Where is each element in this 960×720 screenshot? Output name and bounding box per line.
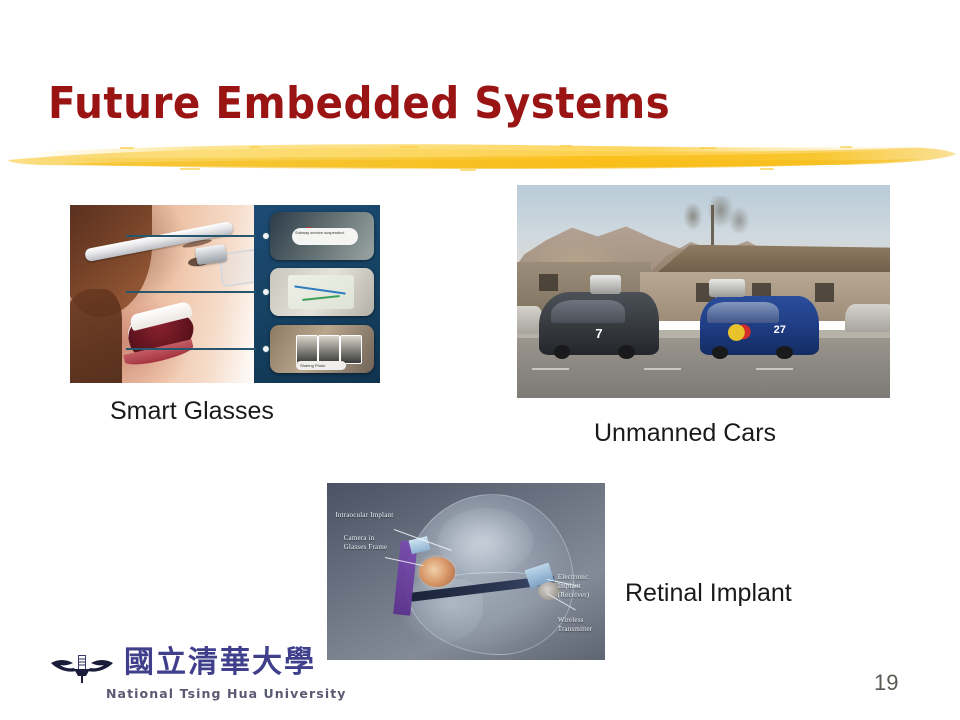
lidar-sensor-rack-2: [709, 279, 745, 297]
label-wireless-transmitter: Wireless Transmitter: [558, 616, 593, 634]
road-marking-3: [756, 368, 793, 370]
map-surface: [288, 275, 354, 309]
caption-unmanned-cars: Unmanned Cars: [594, 420, 776, 448]
caption-retinal-implant: Retinal Implant: [625, 580, 792, 608]
map-route-blue: [294, 285, 346, 294]
window-3: [815, 283, 834, 302]
title-underline-brushstroke: [0, 138, 960, 172]
notification-card: 6 Subway service suspended.: [270, 212, 374, 260]
callout-dot-3: [262, 345, 270, 353]
photo-share-card: Sharing Photo: [270, 325, 374, 373]
image-smart-glasses: 6 Subway service suspended. Sharing Phot…: [70, 205, 380, 383]
photo-thumb-1: [296, 335, 318, 364]
notification-message: Subway service suspended.: [292, 228, 358, 245]
callout-line-1: [126, 235, 256, 237]
callout-dot-1: [262, 232, 270, 240]
smart-glasses-photo: [70, 205, 256, 383]
nthu-emblem-icon: [50, 652, 114, 686]
window-4: [539, 274, 558, 291]
autonomous-car-1: 7: [539, 292, 658, 356]
lidar-sensor-rack-1: [590, 275, 621, 294]
map-route-green: [302, 295, 340, 301]
caption-smart-glasses: Smart Glasses: [110, 398, 274, 426]
car-1-windows: [551, 300, 625, 323]
callout-line-2: [126, 291, 256, 293]
image-retinal-implant: Intraocular Implant Camera in Glasses Fr…: [327, 483, 605, 660]
page-title: Future Embedded Systems: [48, 82, 670, 126]
smart-glasses-ui-panel: 6 Subway service suspended. Sharing Phot…: [254, 205, 380, 383]
car-2-windows: [707, 302, 779, 323]
car-2-number: 27: [769, 322, 790, 339]
car-1-number: 7: [587, 323, 611, 342]
label-intraocular-implant: Intraocular Implant: [335, 511, 393, 520]
autonomous-car-2: 27: [700, 296, 819, 356]
callout-dot-2: [262, 288, 270, 296]
label-electronic-implant-receiver: Electronic Implant (Receiver): [558, 573, 590, 600]
car-2-wheel-rear: [776, 346, 793, 359]
parked-truck-right: [845, 304, 890, 332]
nthu-logo: 國立清華大學 National Tsing Hua University: [50, 648, 302, 706]
road-marking-2: [644, 368, 681, 370]
car-1-wheel-rear: [618, 345, 635, 359]
map-card: [270, 268, 374, 316]
sponsor-logo-icon: [724, 324, 755, 341]
nthu-english-name: National Tsing Hua University: [106, 686, 347, 701]
image-unmanned-cars: 7 27: [517, 185, 890, 398]
label-camera-in-glasses-frame: Camera in Glasses Frame: [344, 534, 388, 552]
nthu-chinese-name: 國立清華大學: [124, 646, 316, 681]
callout-line-3: [126, 348, 256, 350]
page-number: 19: [874, 670, 898, 696]
photo-thumb-3: [340, 335, 362, 364]
photo-share-status: Sharing Photo: [296, 361, 346, 370]
photo-thumb-2: [318, 335, 340, 364]
hair-lower: [70, 289, 122, 383]
road-marking-1: [532, 368, 569, 370]
